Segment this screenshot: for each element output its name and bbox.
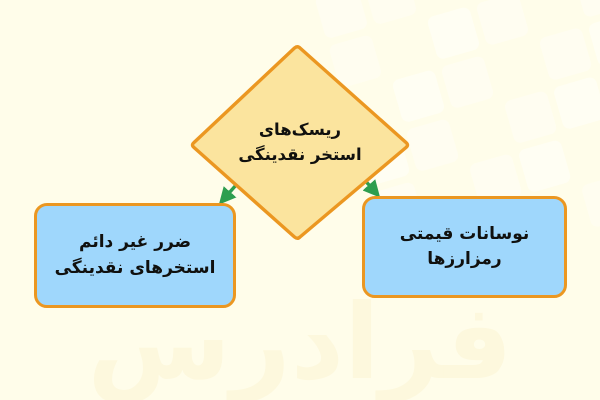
diagram-canvas: فرادرس ریسک‌های استخر نقدینگی ضرر غیر دا… [0,0,600,400]
node-impermanent-loss-label: ضرر غیر دائم استخرهای نقدینگی [45,230,225,280]
node-impermanent-loss[interactable]: ضرر غیر دائم استخرهای نقدینگی [34,203,236,308]
node-crypto-price-volatility[interactable]: نوسانات قیمتی رمزارزها [362,196,567,298]
node-crypto-price-volatility-label: نوسانات قیمتی رمزارزها [373,222,556,272]
node-liquidity-pool-risks-label: ریسک‌های استخر نقدینگی [225,118,375,167]
